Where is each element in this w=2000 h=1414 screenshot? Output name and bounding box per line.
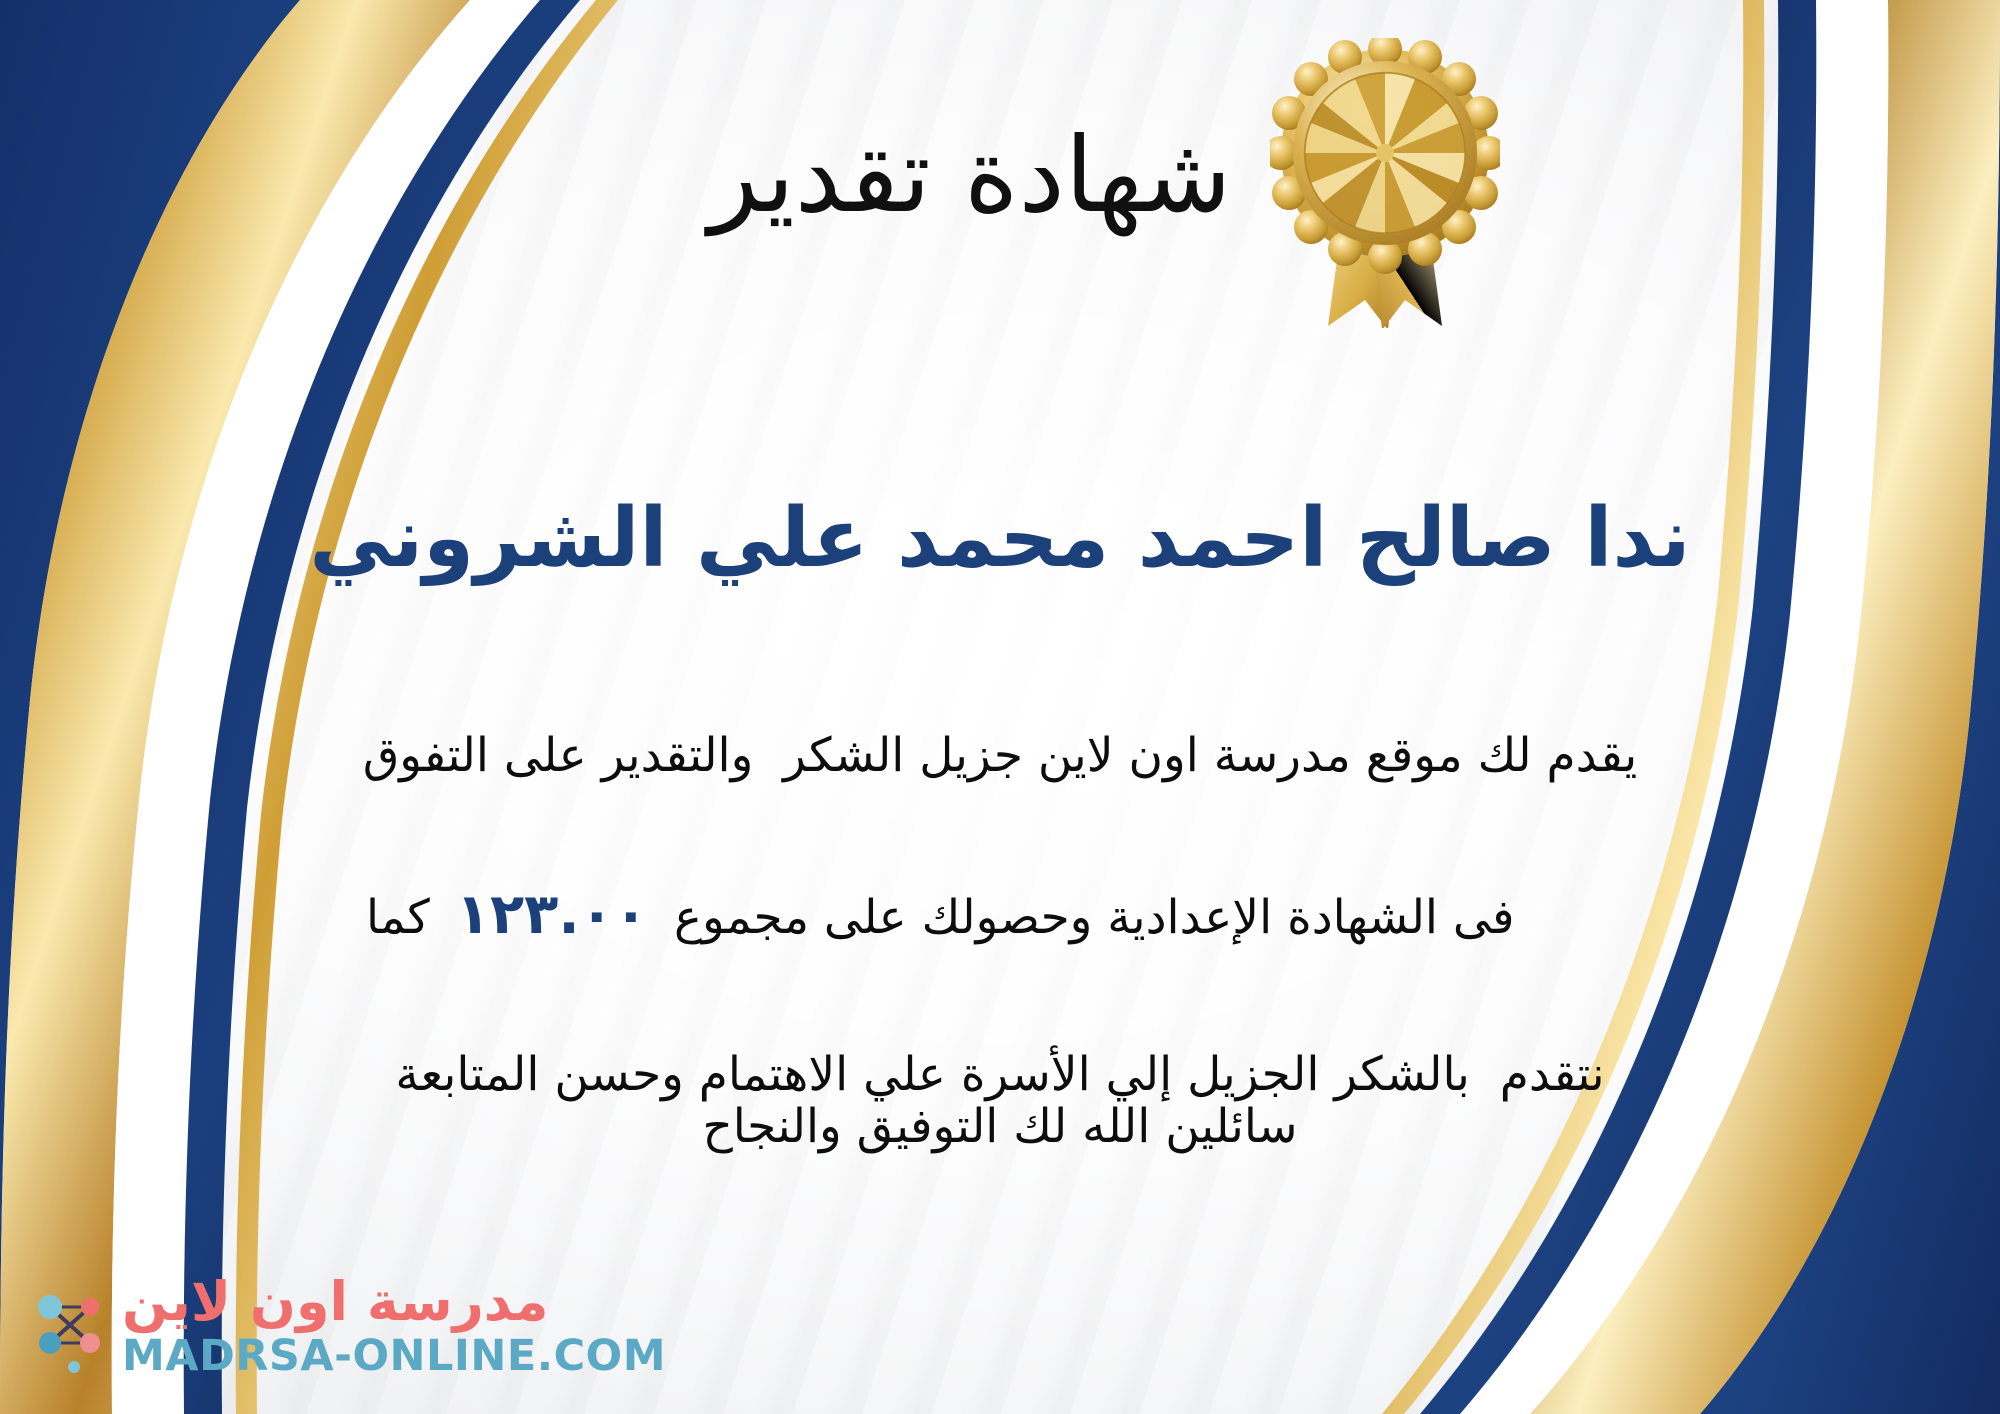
brand-logo[interactable]: مدرسة اون لاين MADRSA-ONLINE.COM: [28, 1275, 666, 1378]
network-nodes-icon: [28, 1281, 112, 1373]
brand-website: MADRSA-ONLINE.COM: [122, 1335, 666, 1378]
brand-text: مدرسة اون لاين MADRSA-ONLINE.COM: [122, 1275, 666, 1378]
page-title: شهادة تقدير: [0, 118, 2000, 232]
certificate-body: يقدم لك موقع مدرسة اون لاين جزيل الشكر و…: [70, 718, 1930, 1113]
body-line-2: فى الشهادة الإعدادية وحصولك على مجموع١٢٣…: [70, 794, 1930, 1037]
gold-medal-rosette-icon: [1270, 38, 1500, 328]
certificate-document: شهادة تقدير ندا صالح احمد محمد علي الشرو…: [0, 0, 2000, 1414]
score-value: ١٢٣.٠٠: [430, 882, 674, 947]
body-line-1: يقدم لك موقع مدرسة اون لاين جزيل الشكر و…: [70, 718, 1930, 794]
brand-arabic-name: مدرسة اون لاين: [122, 1275, 548, 1329]
body-line-2-suffix: كما: [366, 890, 430, 945]
closing-line: سائلين الله لك التوفيق والنجاح: [0, 1092, 2000, 1163]
body-line-2-prefix: فى الشهادة الإعدادية وحصولك على مجموع: [674, 890, 1515, 945]
recipient-name: ندا صالح احمد محمد علي الشروني: [0, 492, 2000, 586]
